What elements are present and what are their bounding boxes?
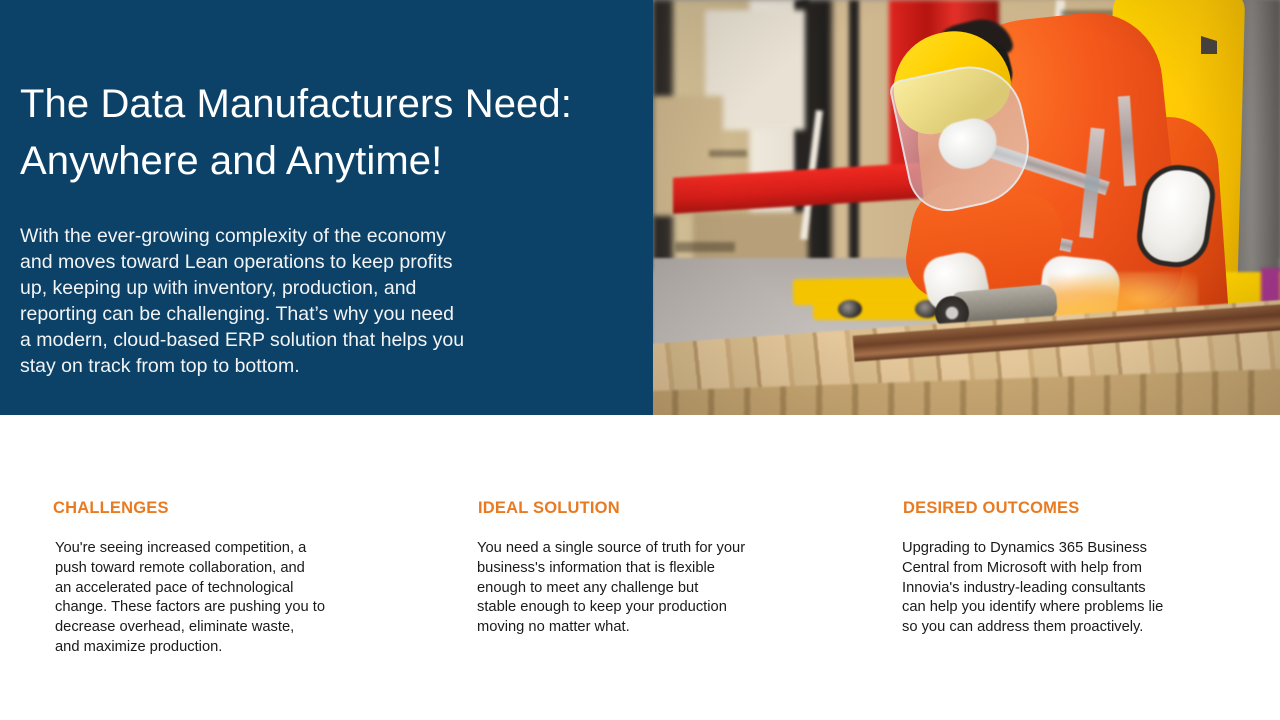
column-heading-desired-outcomes: DESIRED OUTCOMES: [903, 499, 1232, 518]
hero-section: HYSTER The Data Manufacturers Need: Anyw…: [0, 0, 1280, 415]
warehouse-worker-photo: HYSTER: [653, 0, 1280, 415]
three-column-section: CHALLENGES You're seeing increased compe…: [0, 415, 1280, 720]
intro-blue-panel: The Data Manufacturers Need: Anywhere an…: [0, 0, 653, 415]
page-title: The Data Manufacturers Need: Anywhere an…: [20, 76, 640, 190]
column-body-challenges: You're seeing increased competition, a p…: [55, 539, 422, 658]
column-desired-outcomes: DESIRED OUTCOMES Upgrading to Dynamics 3…: [902, 499, 1232, 638]
photo-vignette: [653, 0, 1280, 415]
slide-root: { "theme": { "panel_blue": "#0D4268", "a…: [0, 0, 1280, 720]
column-body-desired-outcomes: Upgrading to Dynamics 365 Business Centr…: [902, 539, 1232, 638]
column-ideal-solution: IDEAL SOLUTION You need a single source …: [477, 499, 837, 638]
column-heading-challenges: CHALLENGES: [53, 499, 422, 518]
intro-paragraph: With the ever-growing complexity of the …: [20, 223, 590, 379]
column-challenges: CHALLENGES You're seeing increased compe…: [52, 499, 422, 658]
column-heading-ideal-solution: IDEAL SOLUTION: [478, 499, 837, 518]
column-body-ideal-solution: You need a single source of truth for yo…: [477, 539, 837, 638]
